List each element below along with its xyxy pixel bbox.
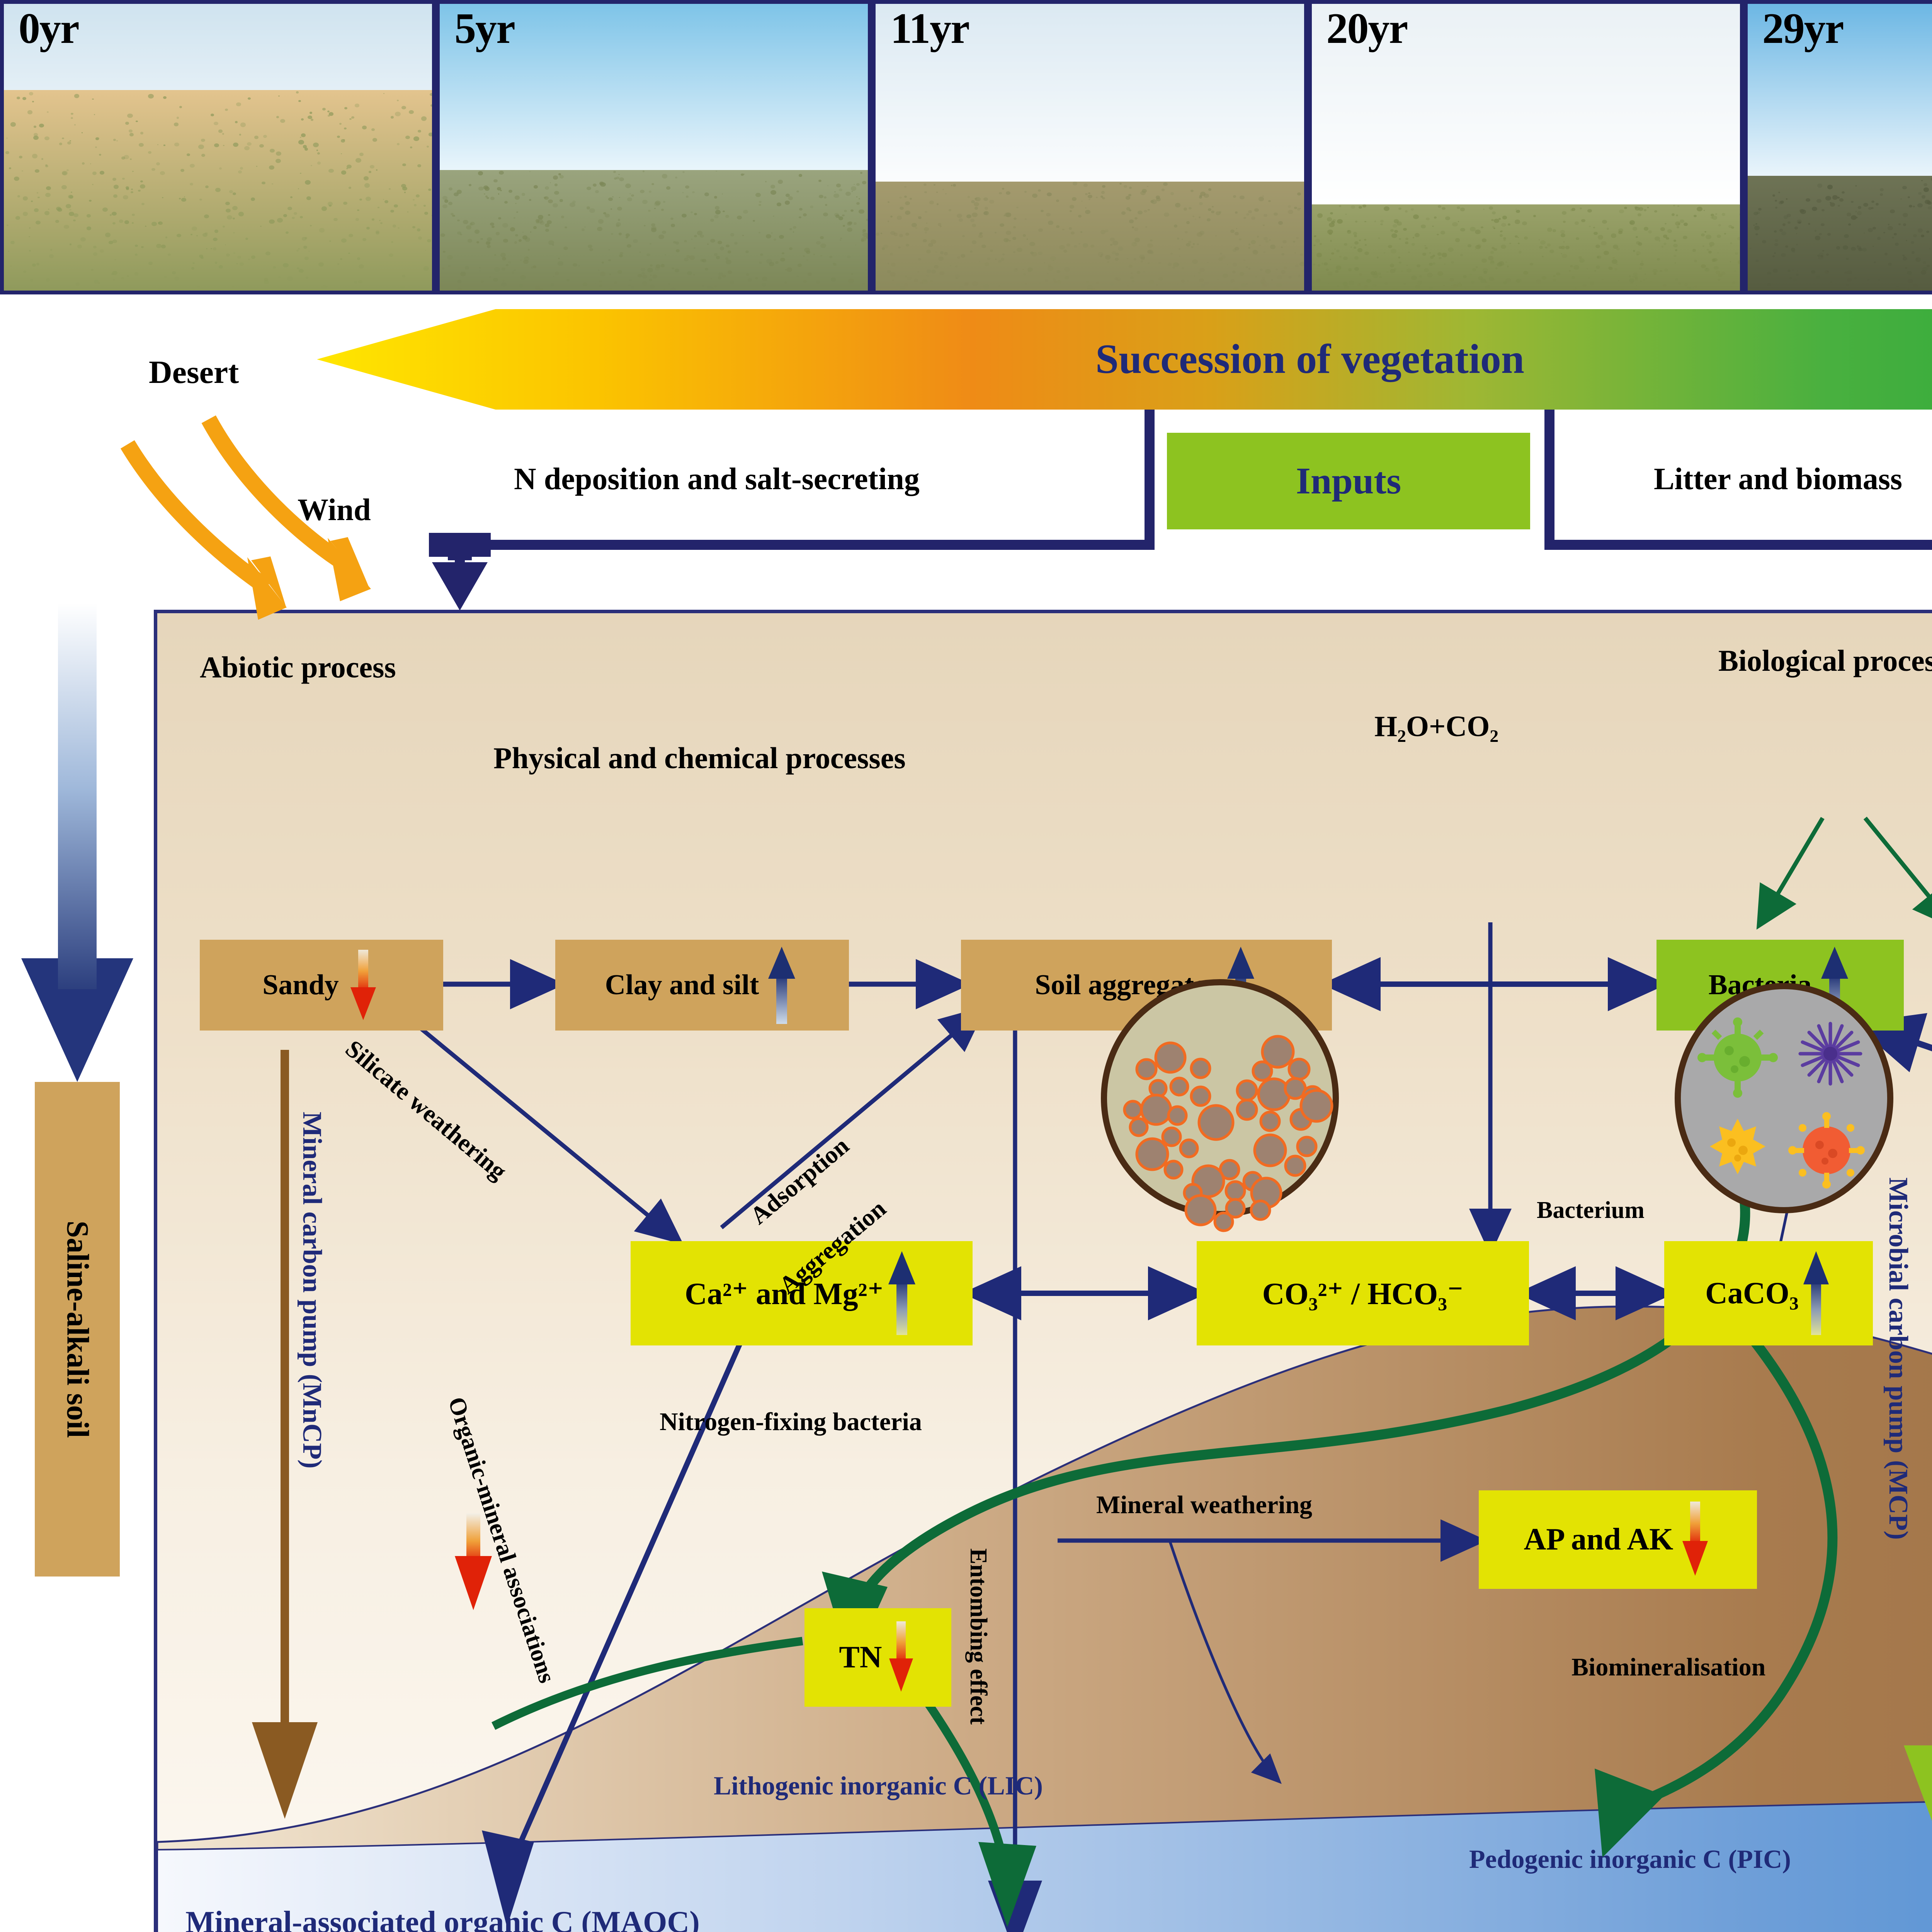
overlay-arrows: [0, 0, 1932, 1932]
